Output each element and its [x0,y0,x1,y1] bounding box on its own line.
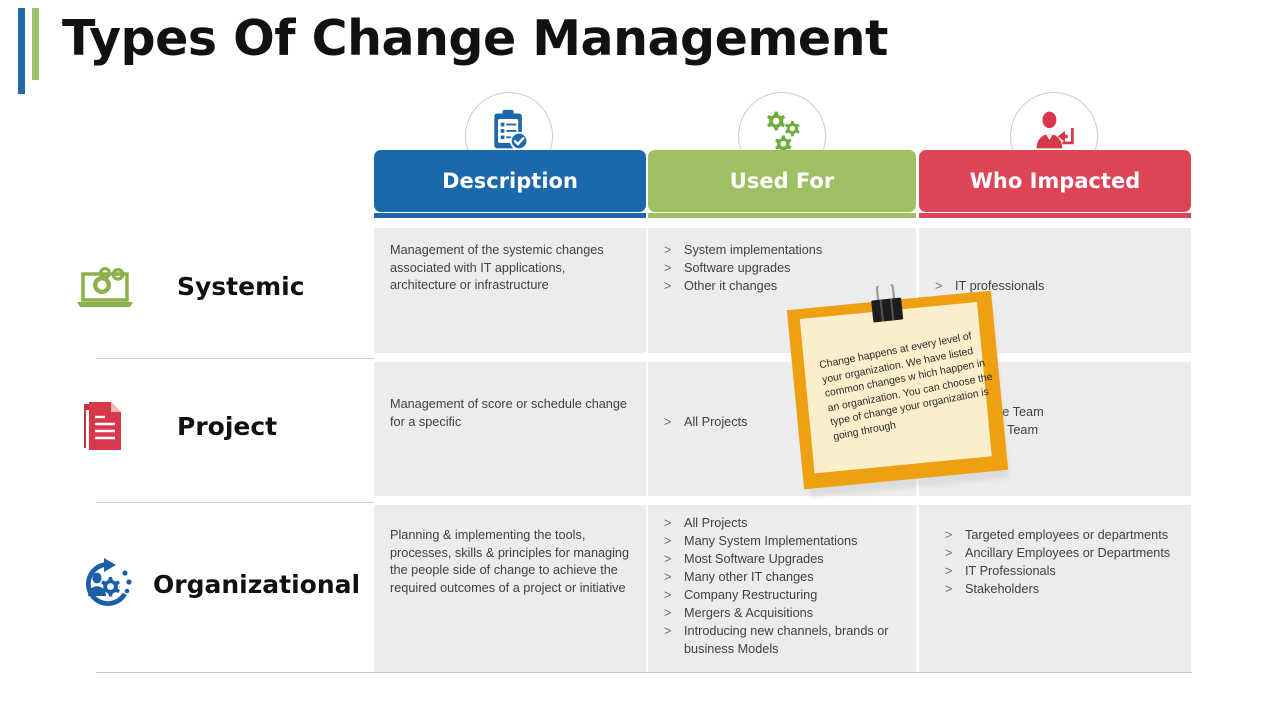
laptop-gears-icon [75,258,141,314]
row-label-text: Systemic [177,272,305,301]
clipboard-check-icon [487,108,531,152]
table-cell-systemic-description: Management of the systemic changes assoc… [374,228,646,353]
title-area: Types Of Change Management [0,0,1280,100]
document-icon [75,398,141,454]
list-item: Many other IT changes [664,569,900,587]
list-item: System implementations [664,242,900,260]
row-label-systemic[interactable]: Systemic [75,258,305,314]
page-title: Types Of Change Management [62,10,888,67]
list-item: Team [991,422,1175,440]
cell-divider [916,505,918,672]
gears-icon [760,108,804,152]
column-header-used-for[interactable]: Used For [648,150,916,212]
table-cell-project-description: Management of score or schedule change f… [374,362,646,496]
column-underline-used-for [648,213,916,218]
list-item: Company Restructuring [664,587,900,605]
table-cell-organizational-description: Planning & implementing the tools, proce… [374,505,646,672]
bullet-list: All Projects Many System Implementations… [664,515,900,658]
row-label-text: Project [177,412,277,441]
cell-text: Management of the systemic changes assoc… [374,228,646,305]
bullet-list: Targeted employees or departments Ancill… [945,527,1175,599]
list-item: Ancillary Employees or Departments [945,545,1175,563]
list-item: Targeted employees or departments [945,527,1175,545]
cell-text: Planning & implementing the tools, proce… [374,505,646,607]
list-item: Stakeholders [945,581,1175,599]
table-cell-organizational-who-impacted: Targeted employees or departments Ancill… [919,505,1191,672]
cell-text: Management of score or schedule change f… [374,362,646,441]
list-item: All Projects [664,515,900,533]
column-header-label: Description [442,169,578,193]
column-underline-description [374,213,646,218]
column-underline-who-impacted [919,213,1191,218]
table-bottom-divider [96,672,1192,673]
list-item: Introducing new channels, brands or busi… [664,623,900,658]
bullet-list: System implementations Software upgrades… [664,242,900,296]
list-item: Mergers & Acquisitions [664,605,900,623]
list-item: Many System Implementations [664,533,900,551]
list-item: Software upgrades [664,260,900,278]
column-header-who-impacted[interactable]: Who Impacted [919,150,1191,212]
row-label-project[interactable]: Project [75,398,277,454]
row-divider-2 [96,502,374,503]
accent-bar-green [32,8,39,80]
row-label-organizational[interactable]: Organizational [75,556,360,612]
row-label-text: Organizational [153,570,360,599]
binder-clip-icon [866,283,909,333]
list-item: IT Professionals [945,563,1175,581]
sticky-note[interactable]: Change happens at every level of your or… [795,300,1005,485]
column-header-label: Who Impacted [970,169,1141,193]
accent-bar-blue [18,8,25,94]
list-item: Other it changes [664,278,900,296]
column-header-label: Used For [730,169,834,193]
table-cell-organizational-used-for: All Projects Many System Implementations… [648,505,916,672]
list-item: Most Software Upgrades [664,551,900,569]
column-header-description[interactable]: Description [374,150,646,212]
cycle-person-gear-icon [75,556,141,612]
person-arrow-icon [1032,108,1076,152]
row-divider-1 [96,358,374,359]
list-item: ore Team [991,404,1175,422]
